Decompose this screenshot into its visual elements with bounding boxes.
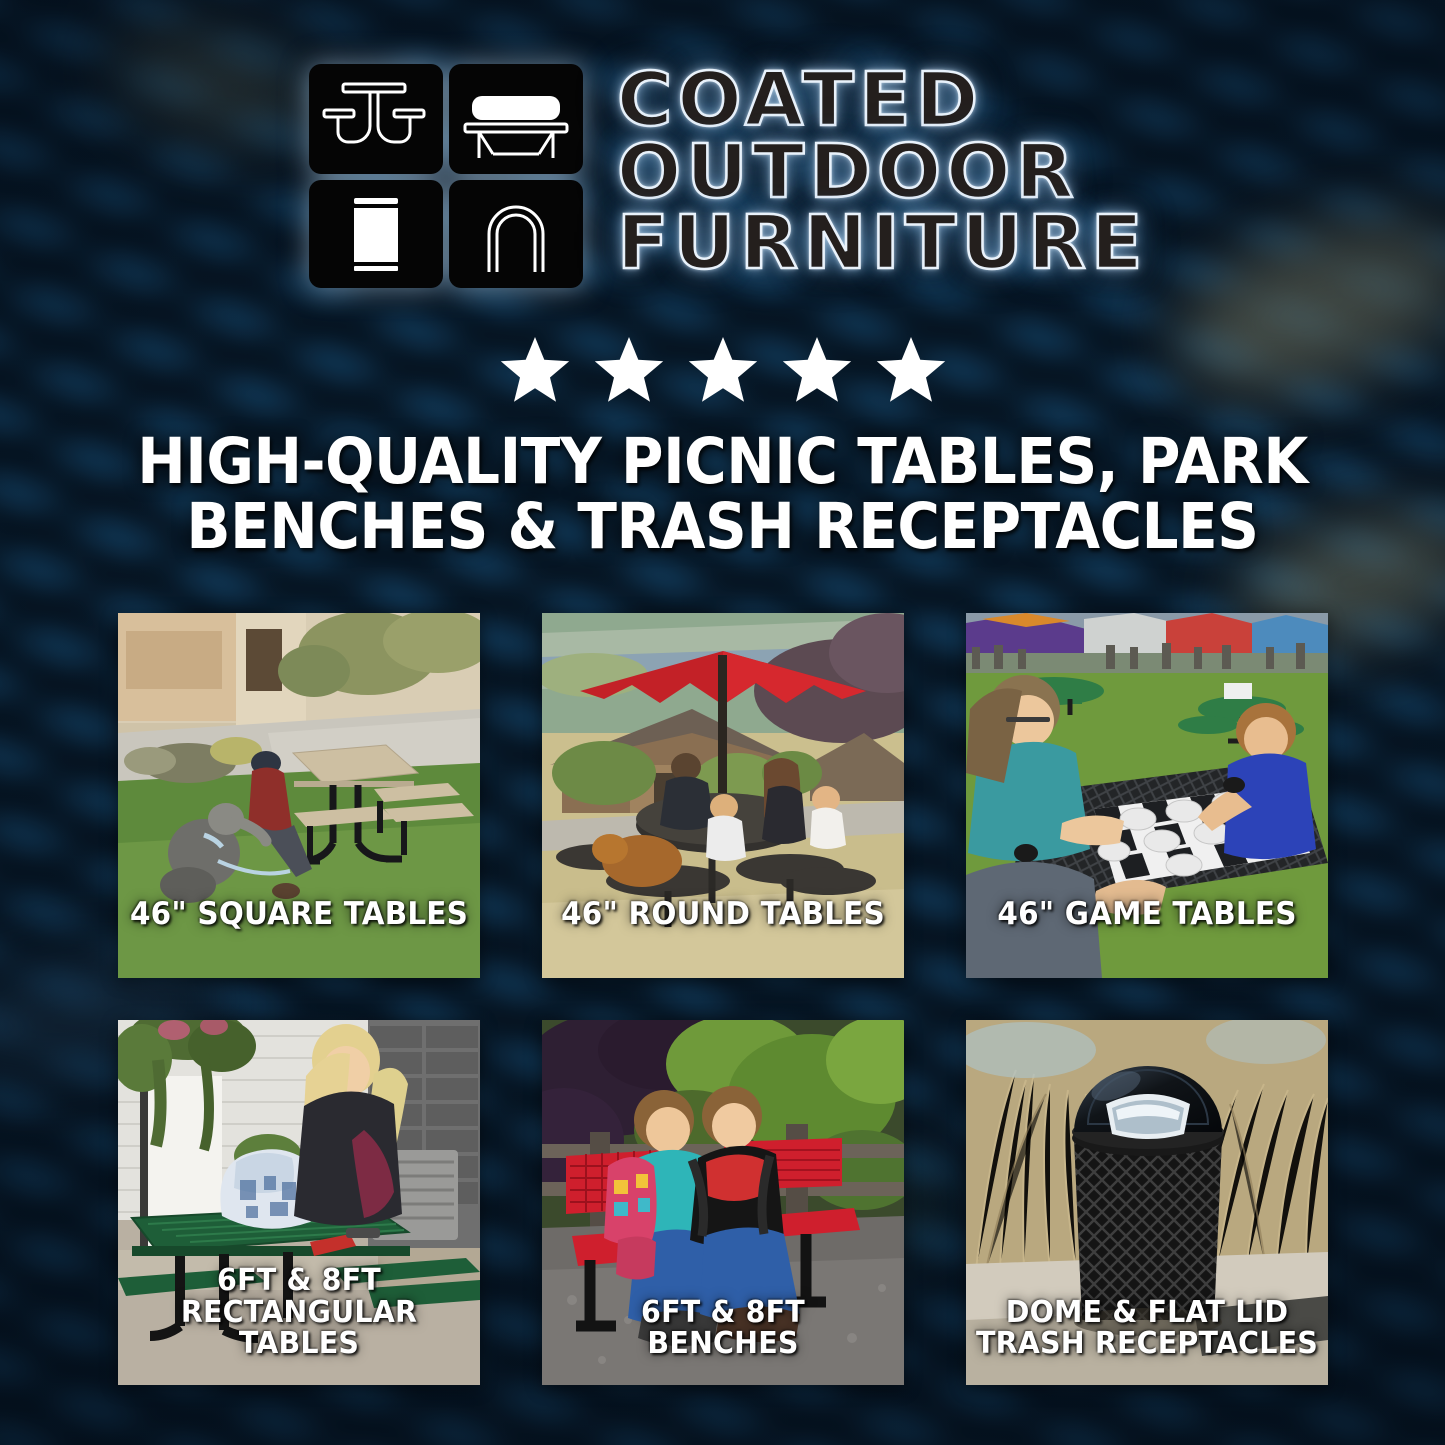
product-caption: 46" SQUARE TABLES bbox=[127, 898, 471, 930]
star-icon bbox=[686, 334, 760, 406]
product-caption-line-1: 6FT & 8FT bbox=[551, 1297, 895, 1328]
product-tile-benches[interactable]: 6FT & 8FT BENCHES bbox=[542, 1020, 904, 1385]
star-icon bbox=[780, 334, 854, 406]
product-caption: 46" ROUND TABLES bbox=[551, 898, 895, 930]
product-grid: 46" SQUARE TABLES bbox=[118, 613, 1328, 1385]
headline-line-1: HIGH-QUALITY PICNIC TABLES, PARK bbox=[122, 430, 1323, 495]
brand-name-line-2: OUTDOOR bbox=[617, 138, 1148, 208]
product-caption-line-2: BENCHES bbox=[551, 1328, 895, 1359]
brand-logo-mark bbox=[307, 62, 585, 290]
brand-wordmark: COATED OUTDOOR FURNITURE bbox=[617, 62, 1137, 279]
product-caption: 46" GAME TABLES bbox=[975, 898, 1319, 930]
product-caption-line-2: TRASH RECEPTACLES bbox=[975, 1328, 1319, 1359]
product-caption: 6FT & 8FT BENCHES bbox=[551, 1297, 895, 1359]
star-icon bbox=[498, 334, 572, 406]
product-caption-line-1: DOME & FLAT LID bbox=[975, 1297, 1319, 1328]
product-tile-rectangular-tables[interactable]: 6FT & 8FT RECTANGULAR TABLES bbox=[118, 1020, 480, 1385]
product-caption-line-2: RECTANGULAR TABLES bbox=[127, 1297, 471, 1359]
product-tile-square-tables[interactable]: 46" SQUARE TABLES bbox=[118, 613, 480, 978]
headline-line-2: BENCHES & TRASH RECEPTACLES bbox=[122, 495, 1323, 560]
product-tile-trash-receptacles[interactable]: DOME & FLAT LID TRASH RECEPTACLES bbox=[966, 1020, 1328, 1385]
trash-receptacle-icon bbox=[354, 198, 398, 271]
product-caption: DOME & FLAT LID TRASH RECEPTACLES bbox=[975, 1297, 1319, 1359]
product-caption: 6FT & 8FT RECTANGULAR TABLES bbox=[127, 1265, 471, 1359]
page-headline: HIGH-QUALITY PICNIC TABLES, PARK BENCHES… bbox=[0, 430, 1445, 560]
product-tile-game-tables[interactable]: 46" GAME TABLES bbox=[966, 613, 1328, 978]
brand-name-line-3: FURNITURE bbox=[617, 209, 1148, 279]
star-icon bbox=[874, 334, 948, 406]
brand-name-line-1: COATED bbox=[617, 66, 1148, 136]
star-icon bbox=[592, 334, 666, 406]
product-caption-line-1: 6FT & 8FT bbox=[127, 1265, 471, 1296]
brand-header: COATED OUTDOOR FURNITURE bbox=[0, 62, 1445, 290]
product-tile-round-tables[interactable]: 46" ROUND TABLES bbox=[542, 613, 904, 978]
star-rating bbox=[0, 334, 1445, 406]
